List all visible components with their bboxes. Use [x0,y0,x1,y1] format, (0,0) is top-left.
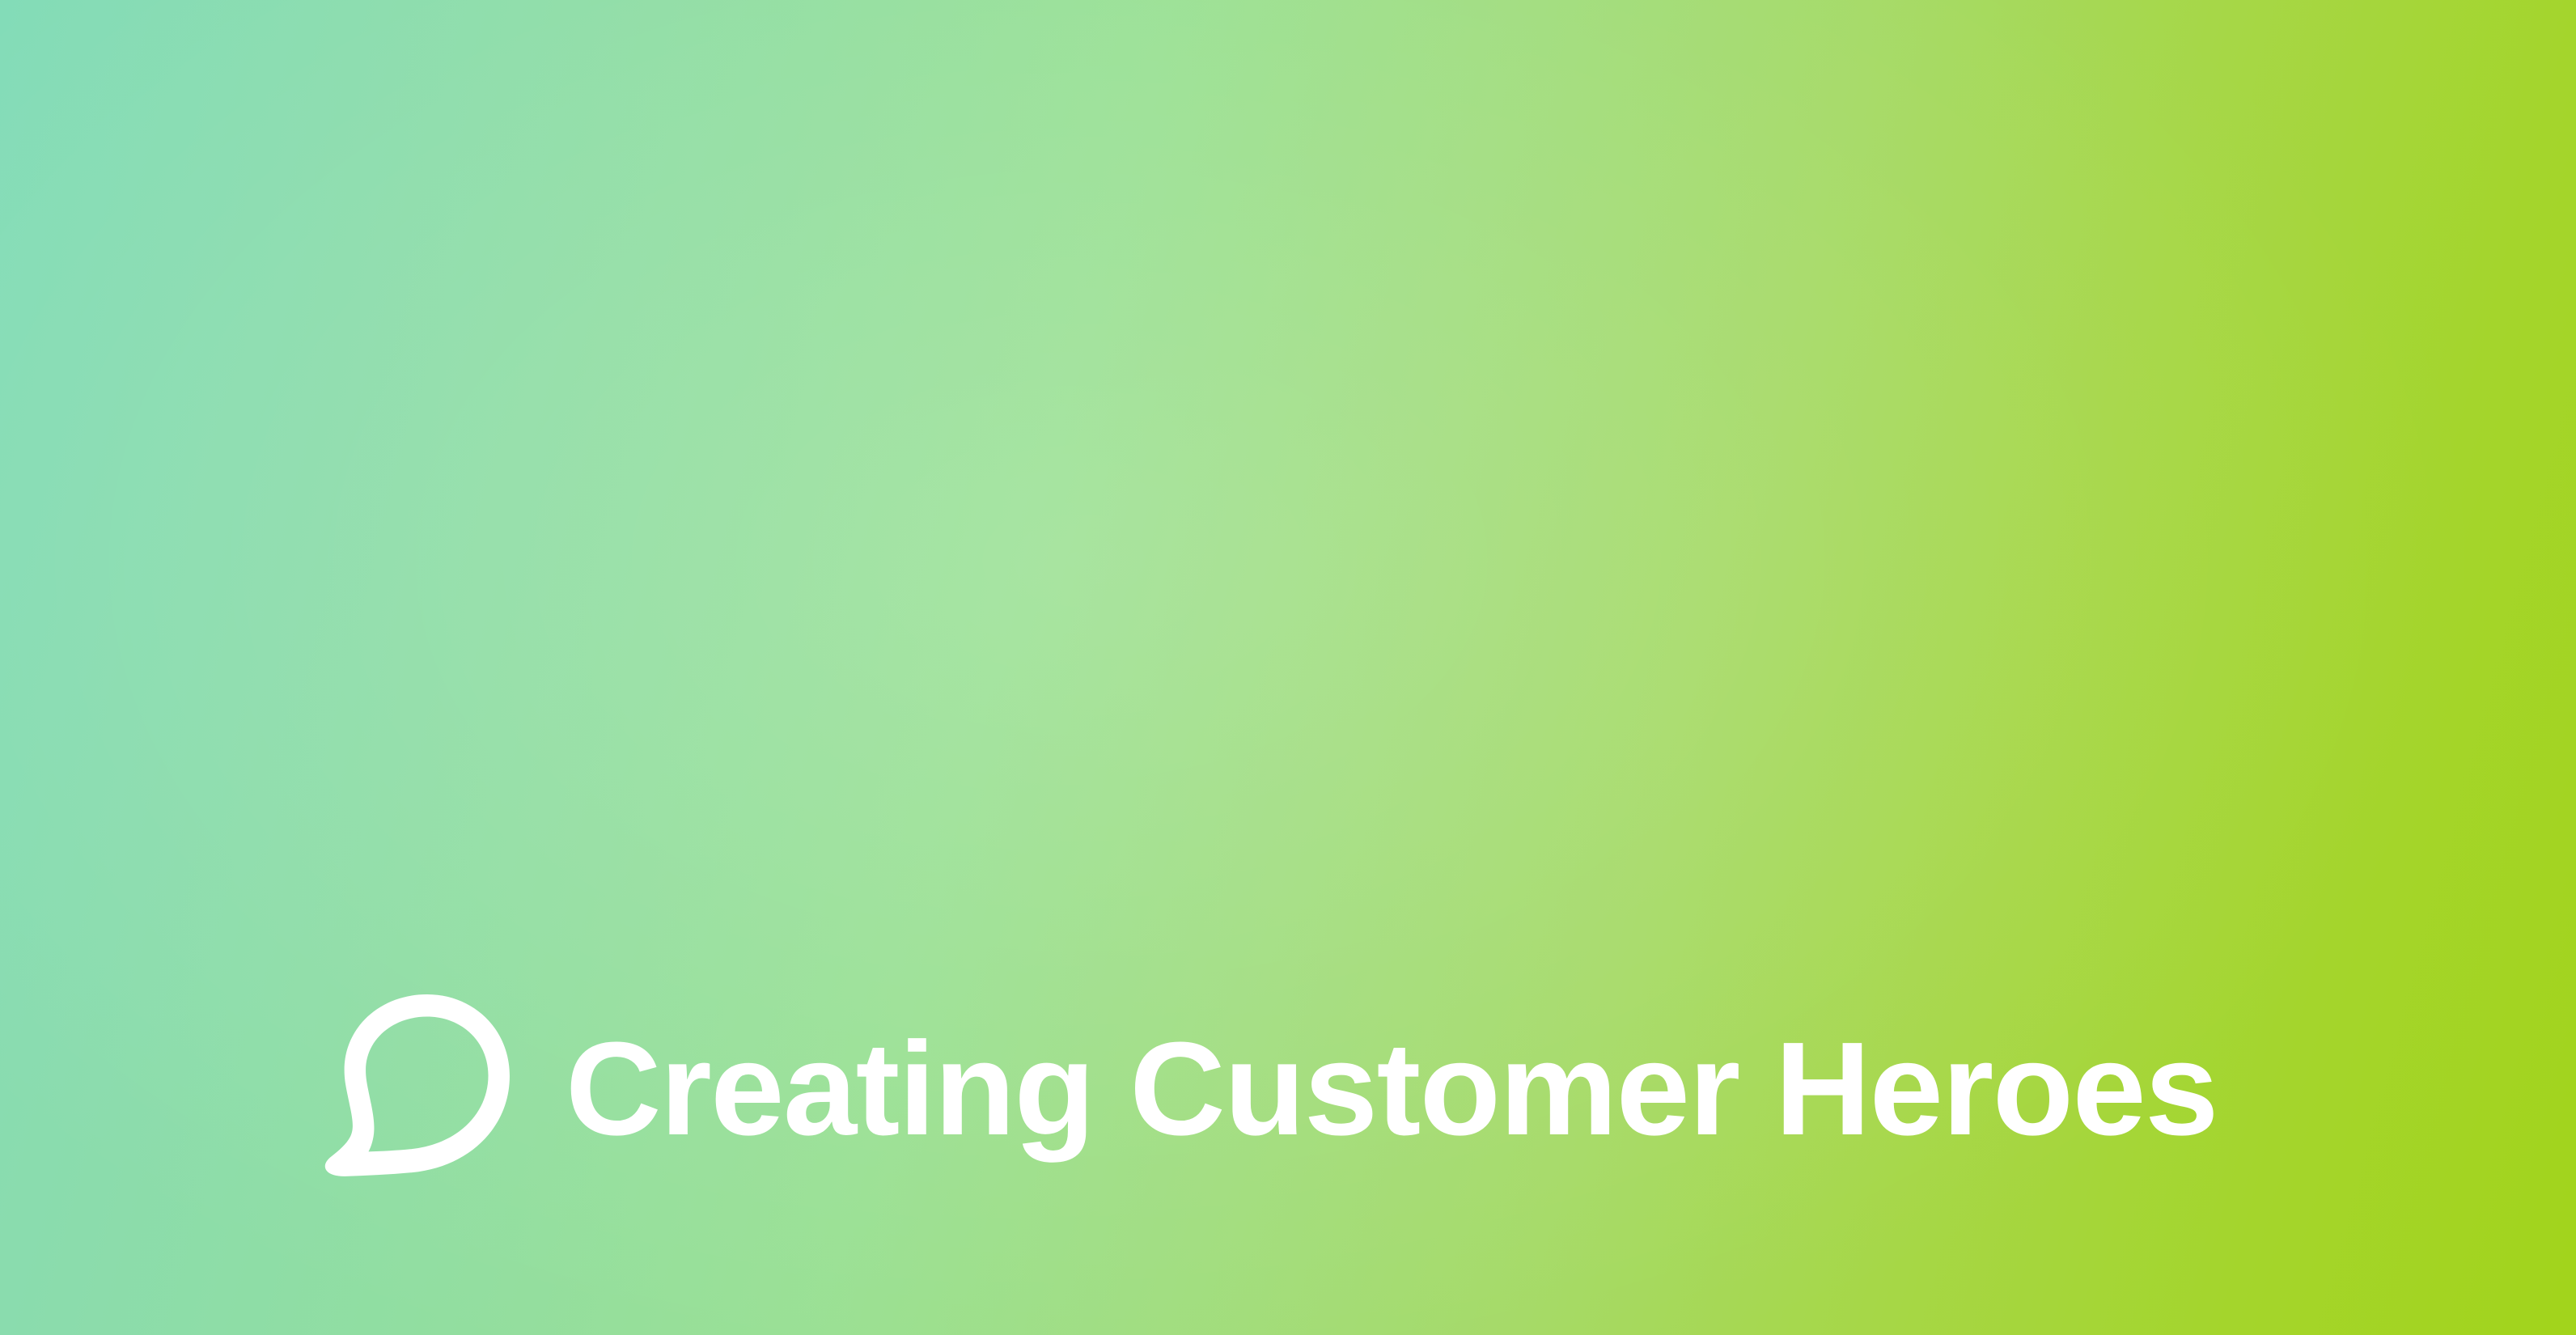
speech-bubble-icon [311,981,523,1193]
brand-lockup: Creating Customer Heroes [311,981,2218,1197]
brand-banner: Creating Customer Heroes [0,0,2576,1335]
page-title: Creating Customer Heroes [566,1023,2218,1155]
